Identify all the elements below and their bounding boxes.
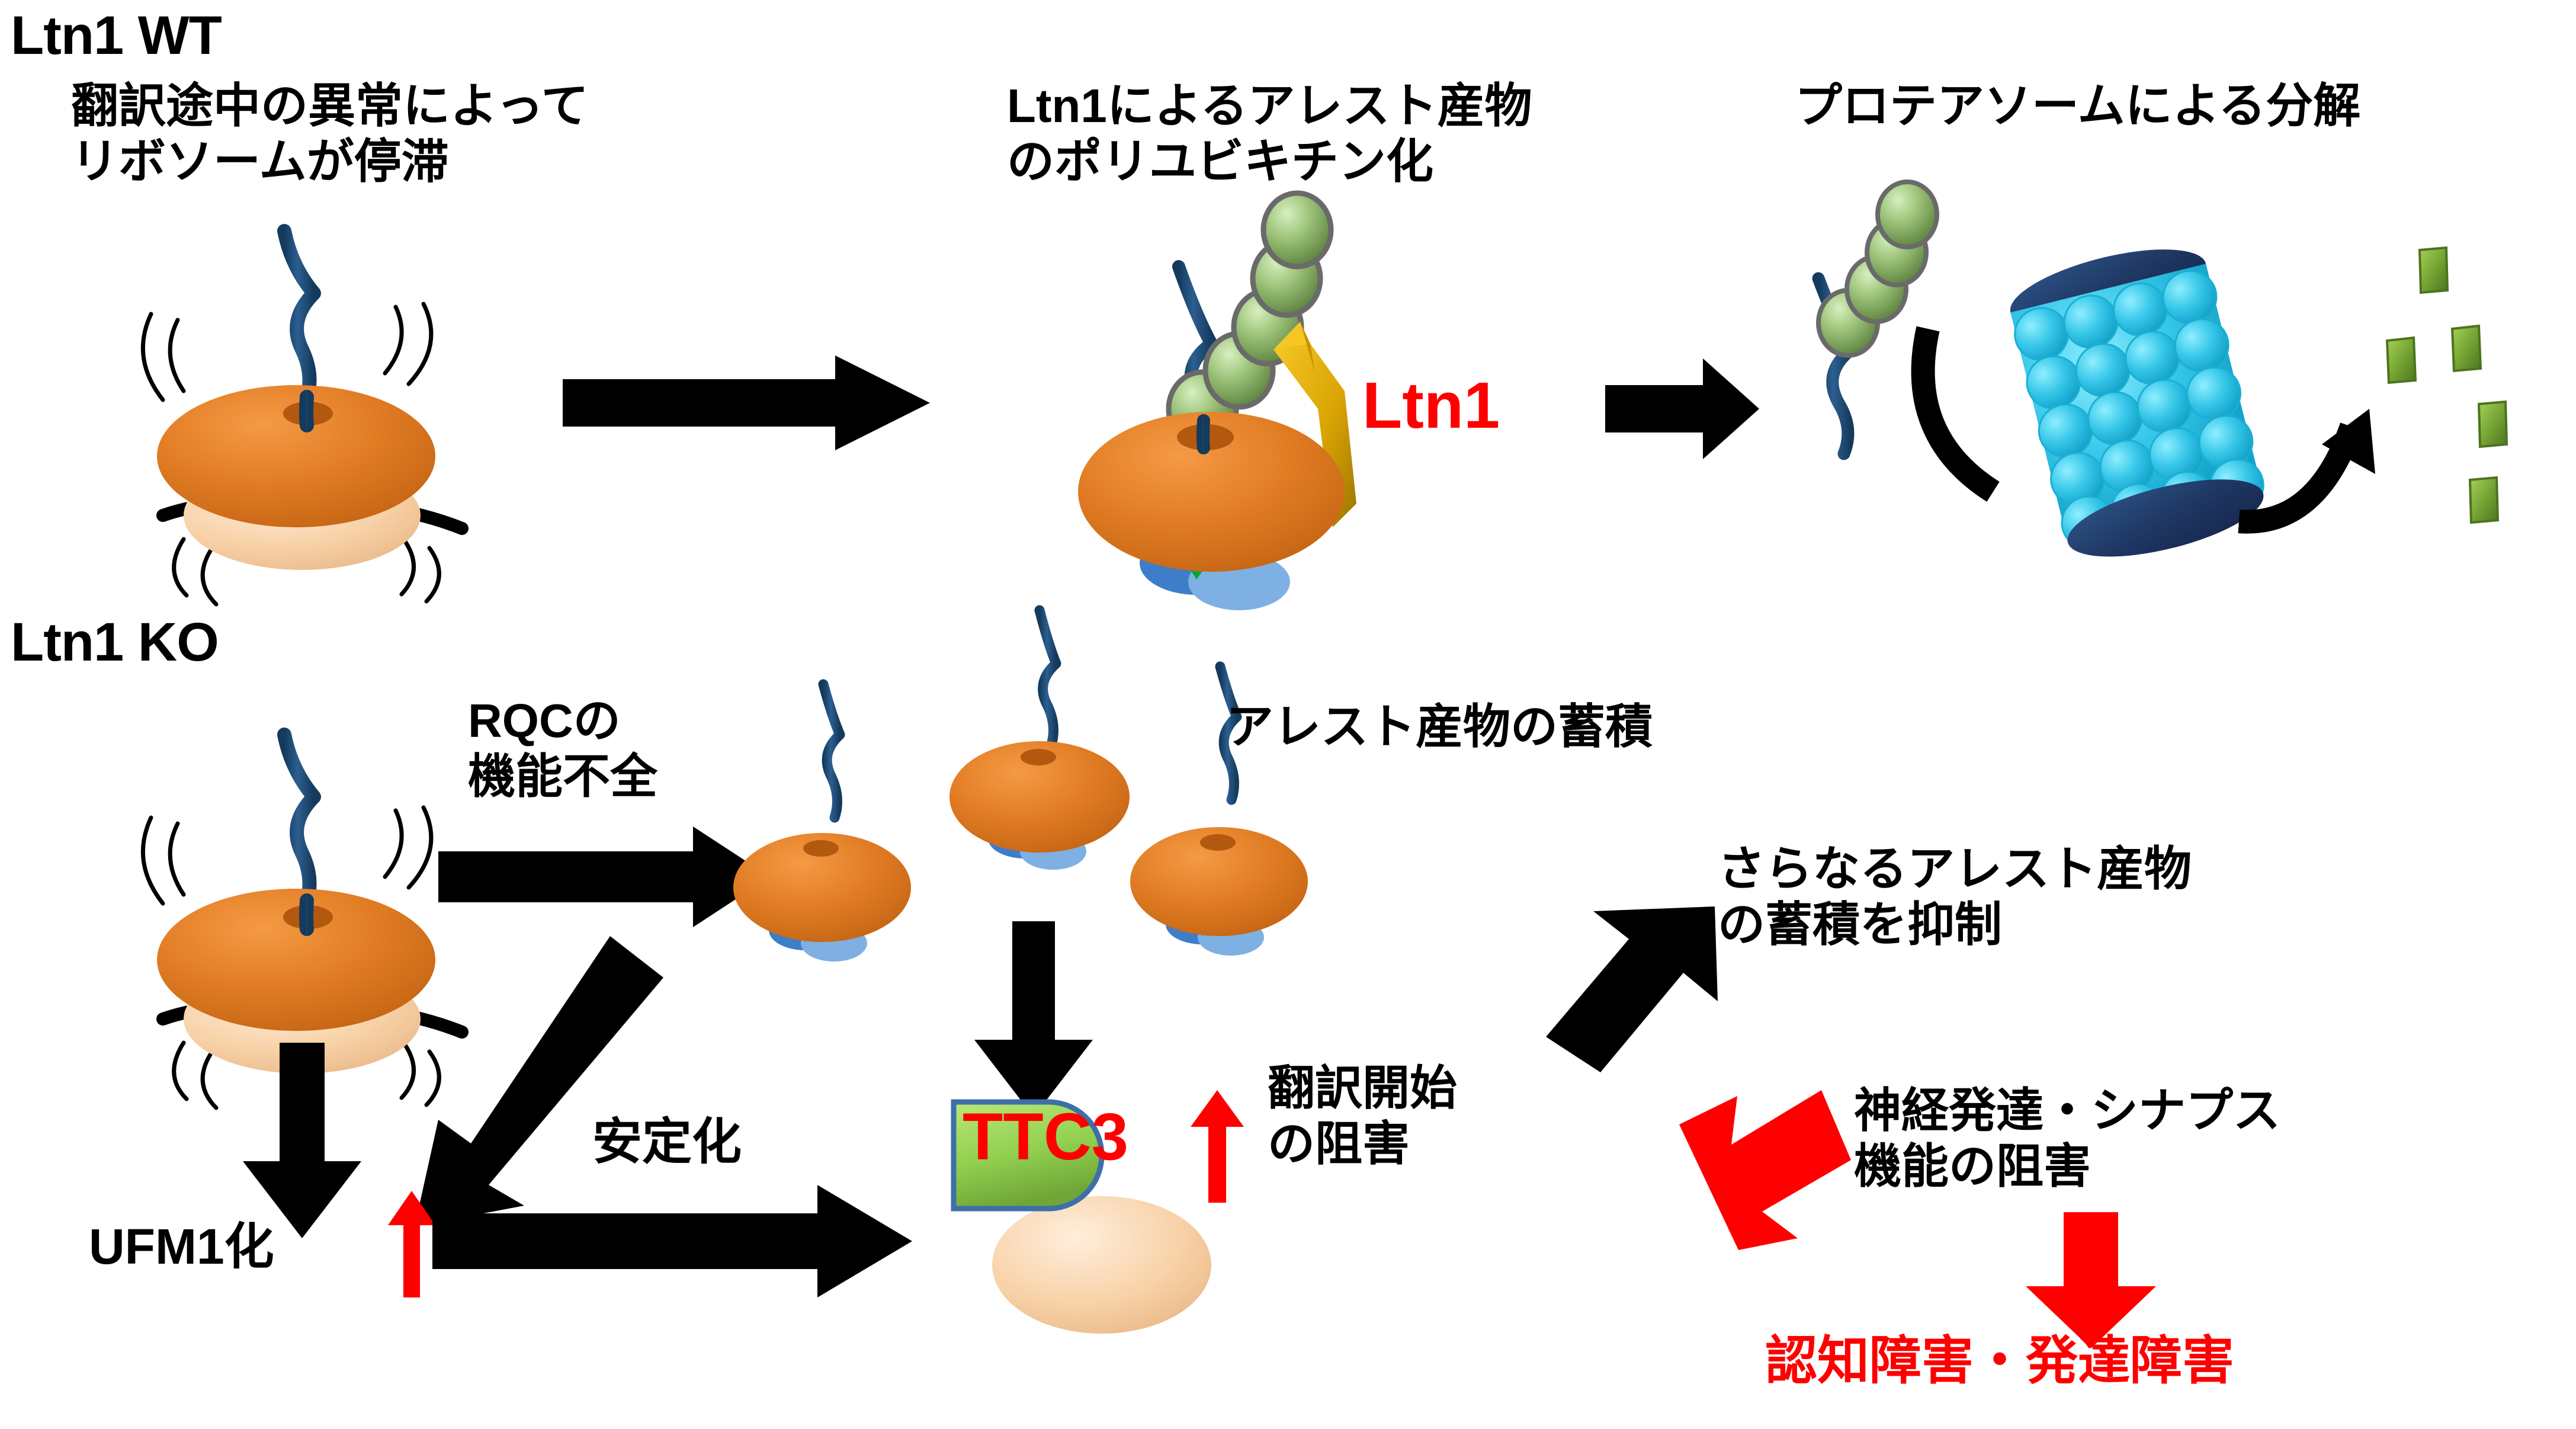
arrow-up-icon-red-ufm1 [388,1191,435,1297]
nascent-chain [284,735,314,902]
proteasome-degradation-wt [1771,213,2553,592]
arrow-right-icon-wt-2 [1605,358,1759,459]
caption-wt-step3: プロテアソームによる分解 [1795,78,2360,134]
proteasome-barrel [2001,233,2274,572]
caption-neuro-impairment: 神経発達・シナプス 機能の阻害 [1854,1083,2280,1195]
label-stabilize: 安定化 [592,1113,742,1171]
caption-suppress-accumulation: さらなるアレスト産物 の蓄積を抑制 [1718,841,2192,953]
ribosome-small-subunit-ttc3 [992,1196,1211,1334]
arrow-down-icon-ufm1 [243,1043,361,1238]
arrow-up-right-icon [1546,906,1724,1072]
arrow-right-icon-ko-1 [438,826,770,927]
caption-outcome: 認知障害・発達障害 [1765,1330,2234,1392]
ltn1-label: Ltn1 [1362,367,1500,444]
caption-ko-accumulation: アレスト産物の蓄積 [1226,699,1653,755]
arrow-up-icon-red-ttc3 [1191,1090,1244,1203]
caption-translation-block: 翻訳開始 の阻害 [1268,1060,1457,1172]
nascent-chain [284,231,314,398]
caption-ko-rqc: RQCの 機能不全 [468,693,657,805]
arrow-curved-in-icon [1923,329,1993,492]
caption-wt-step1: 翻訳途中の異常によって リボソームが停滞 [71,78,589,190]
figure-canvas: Ltn1 WT Ltn1 KO 翻訳途中の異常によって リボソームが停滞 Ltn… [0,0,2576,1429]
arrow-down-icon-red-outcome [2026,1212,2156,1348]
peptide-fragments [2387,248,2507,523]
caption-wt-step2: Ltn1によるアレスト産物 のポリユビキチン化 [1007,78,1532,190]
arrow-right-icon-wt-1 [563,355,930,450]
arrow-down-right-icon-red [1679,1090,1851,1250]
arrow-right-icon-stabilize [432,1185,912,1297]
stalled-ribosome-wt [107,196,533,563]
label-ttc3: TTC3 [963,1098,1128,1176]
label-ufm1: UFM1化 [89,1217,274,1276]
ribosome-unit-2 [949,610,1130,870]
row-label-wt: Ltn1 WT [11,4,222,68]
ribosome-unit-1 [733,684,911,962]
row-label-ko: Ltn1 KO [11,610,219,675]
